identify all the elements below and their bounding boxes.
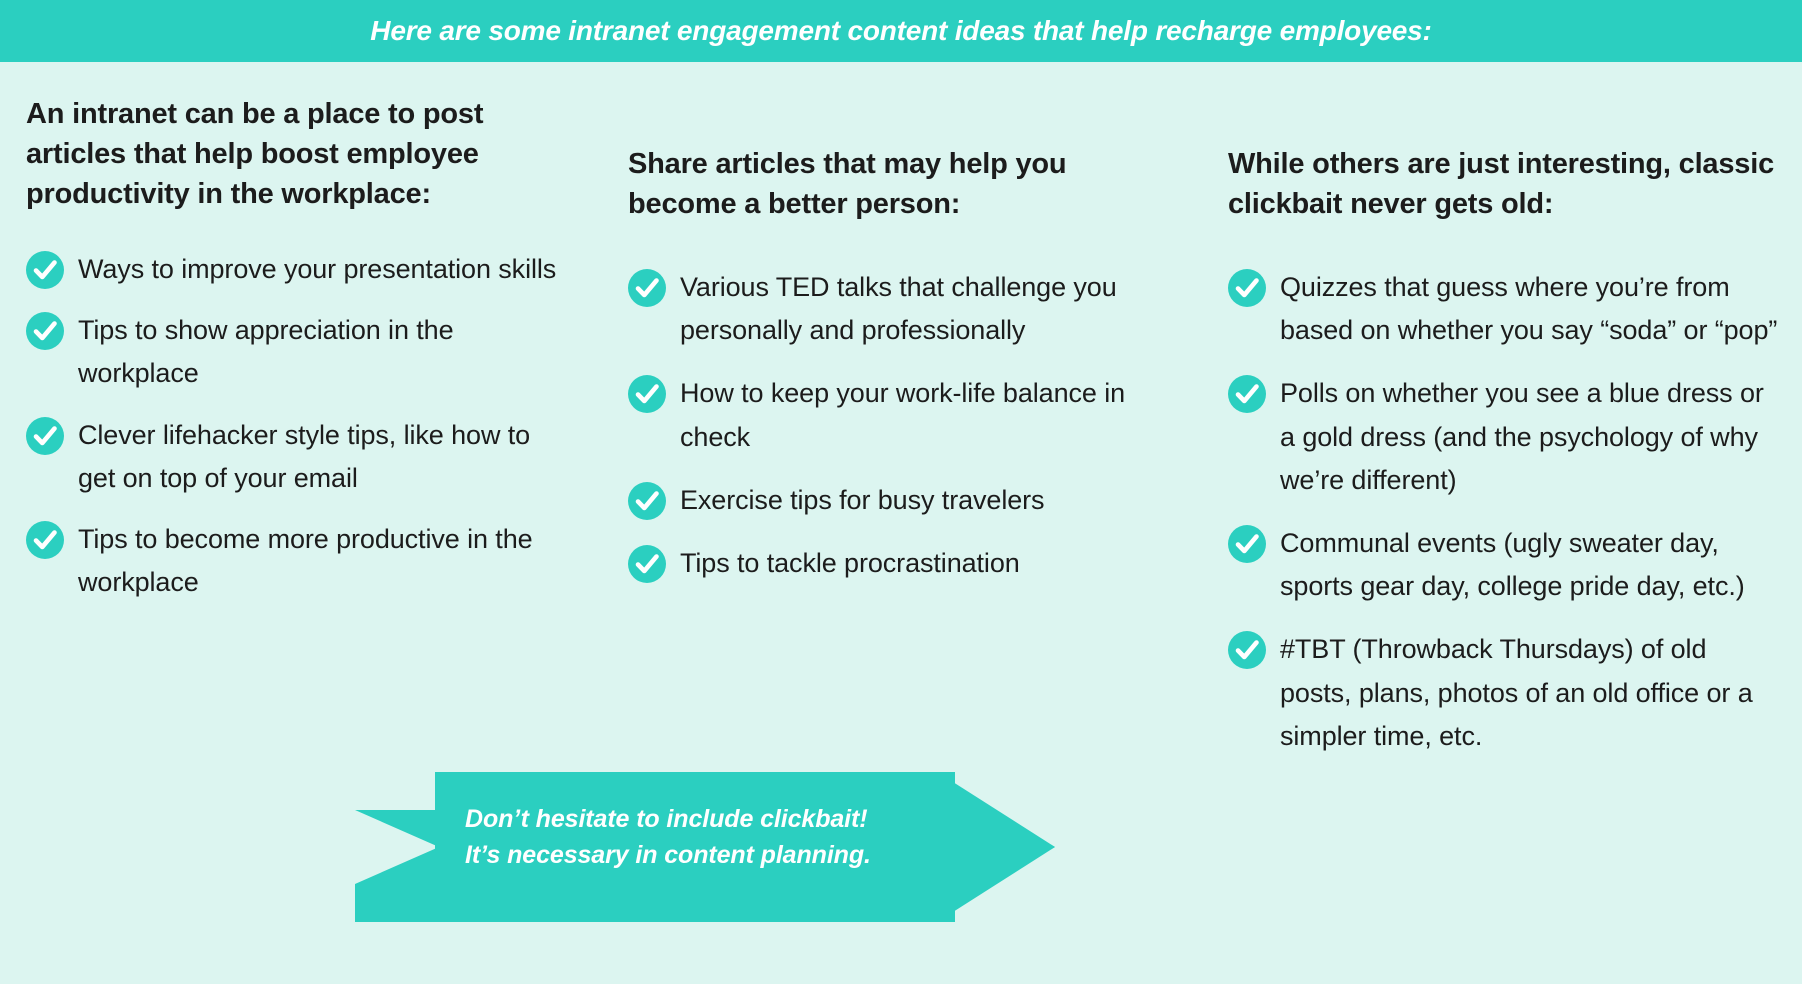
check-circle-icon [1228, 269, 1266, 307]
content-column-1: An intranet can be a place to post artic… [0, 62, 610, 604]
list-item: #TBT (Throwback Thursdays) of old posts,… [1228, 628, 1782, 758]
check-circle-icon [628, 269, 666, 307]
check-circle-icon [1228, 525, 1266, 563]
list-item: Clever lifehacker style tips, like how t… [26, 414, 570, 500]
list-item: How to keep your work-life balance in ch… [628, 372, 1170, 458]
list-item-label: Tips to become more productive in the wo… [78, 518, 570, 604]
check-circle-icon [628, 482, 666, 520]
column-2-heading: Share articles that may help you become … [628, 144, 1170, 224]
list-item: Exercise tips for busy travelers [628, 479, 1170, 522]
column-2-list: Various TED talks that challenge you per… [628, 266, 1170, 585]
content-column-3: While others are just interesting, class… [1210, 62, 1802, 758]
list-item: Polls on whether you see a blue dress or… [1228, 372, 1782, 502]
check-circle-icon [26, 312, 64, 350]
list-item: Tips to tackle procrastination [628, 542, 1170, 585]
check-circle-icon [1228, 375, 1266, 413]
header-banner: Here are some intranet engagement conten… [0, 0, 1802, 62]
callout-line-1: Don’t hesitate to include clickbait! [465, 802, 985, 838]
list-item: Tips to show appreciation in the workpla… [26, 309, 570, 395]
clickbait-callout-banner: Don’t hesitate to include clickbait! It’… [355, 772, 1055, 922]
check-circle-icon [628, 545, 666, 583]
list-item-label: Communal events (ugly sweater day, sport… [1280, 522, 1782, 608]
callout-text: Don’t hesitate to include clickbait! It’… [465, 802, 985, 873]
check-circle-icon [1228, 631, 1266, 669]
list-item-label: Polls on whether you see a blue dress or… [1280, 372, 1782, 502]
list-item-label: How to keep your work-life balance in ch… [680, 372, 1170, 458]
list-item-label: Quizzes that guess where you’re from bas… [1280, 266, 1782, 352]
check-circle-icon [26, 521, 64, 559]
list-item-label: #TBT (Throwback Thursdays) of old posts,… [1280, 628, 1782, 758]
list-item-label: Tips to tackle procrastination [680, 542, 1020, 585]
content-column-2: Share articles that may help you become … [610, 62, 1210, 585]
list-item-label: Clever lifehacker style tips, like how t… [78, 414, 570, 500]
list-item: Communal events (ugly sweater day, sport… [1228, 522, 1782, 608]
list-item: Quizzes that guess where you’re from bas… [1228, 266, 1782, 352]
check-circle-icon [26, 417, 64, 455]
column-3-heading: While others are just interesting, class… [1228, 144, 1782, 224]
list-item-label: Ways to improve your presentation skills [78, 248, 556, 291]
callout-line-2: It’s necessary in content planning. [465, 838, 985, 874]
list-item-label: Exercise tips for busy travelers [680, 479, 1044, 522]
check-circle-icon [26, 251, 64, 289]
list-item: Tips to become more productive in the wo… [26, 518, 570, 604]
list-item-label: Tips to show appreciation in the workpla… [78, 309, 570, 395]
check-circle-icon [628, 375, 666, 413]
page-title: Here are some intranet engagement conten… [370, 17, 1431, 45]
list-item-label: Various TED talks that challenge you per… [680, 266, 1170, 352]
infographic-root: Here are some intranet engagement conten… [0, 0, 1802, 984]
column-1-heading: An intranet can be a place to post artic… [26, 94, 570, 214]
list-item: Ways to improve your presentation skills [26, 248, 570, 291]
list-item: Various TED talks that challenge you per… [628, 266, 1170, 352]
column-3-list: Quizzes that guess where you’re from bas… [1228, 266, 1782, 758]
column-1-list: Ways to improve your presentation skills… [26, 248, 570, 604]
